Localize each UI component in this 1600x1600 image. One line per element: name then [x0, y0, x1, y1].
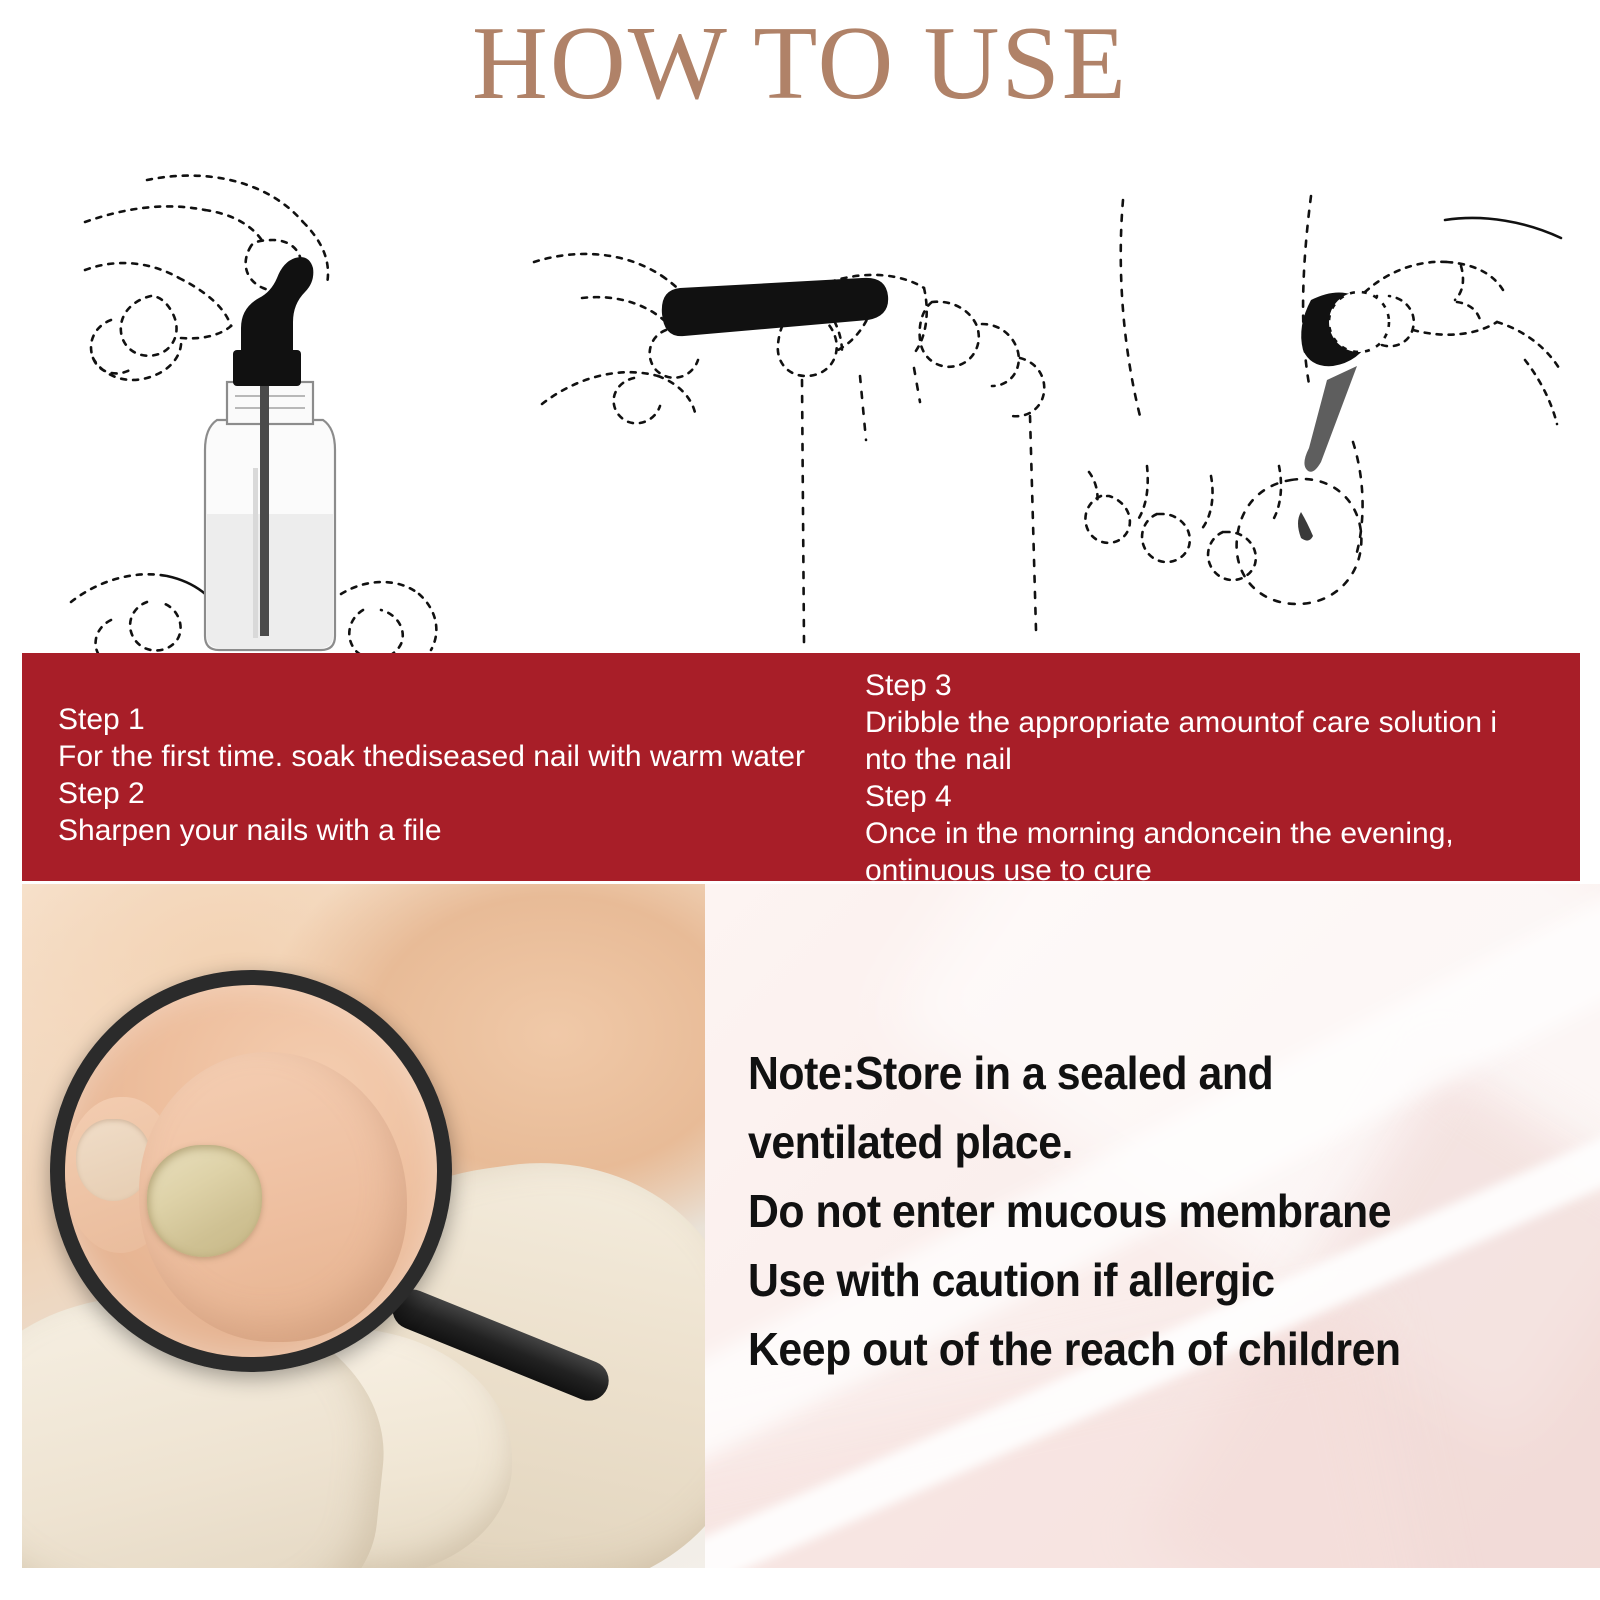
note-line-3: Do not enter mucous membrane [748, 1177, 1529, 1246]
fungal-toenail [147, 1145, 262, 1257]
step-4-heading: Step 4 [865, 778, 1565, 815]
step-2-heading: Step 2 [58, 775, 858, 812]
note-panel: Note:Store in a sealed and ventilated pl… [705, 884, 1600, 1568]
page-title: HOW TO USE [0, 8, 1600, 118]
illustration-band [0, 150, 1600, 660]
nail-file-illustration [530, 190, 1050, 650]
note-line-5: Keep out of the reach of children [748, 1315, 1529, 1384]
note-line-1: Note:Store in a sealed and [748, 1039, 1529, 1108]
dropper-bottle-illustration [55, 150, 485, 660]
steps-panel: Step 1 For the first time. soak thedisea… [22, 653, 1580, 881]
note-line-2: ventilated place. [748, 1108, 1529, 1177]
steps-left-column: Step 1 For the first time. soak thedisea… [58, 701, 858, 849]
step-3-text-line-2: nto the nail [865, 741, 1565, 778]
note-text-block: Note:Store in a sealed and ventilated pl… [748, 1039, 1588, 1384]
dropper-application-illustration [1065, 180, 1565, 660]
magnifier-lens [50, 970, 452, 1372]
note-line-4: Use with caution if allergic [748, 1246, 1529, 1315]
steps-right-column: Step 3 Dribble the appropriate amountof … [865, 667, 1565, 889]
step-3-text-line-1: Dribble the appropriate amountof care so… [865, 704, 1565, 741]
fungal-nail-magnifier-photo [22, 884, 705, 1568]
step-3-heading: Step 3 [865, 667, 1565, 704]
step-4-text-line-1: Once in the morning andoncein the evenin… [865, 815, 1565, 852]
step-2-text: Sharpen your nails with a file [58, 812, 858, 849]
step-1-heading: Step 1 [58, 701, 858, 738]
step-1-text: For the first time. soak thediseased nai… [58, 738, 858, 775]
